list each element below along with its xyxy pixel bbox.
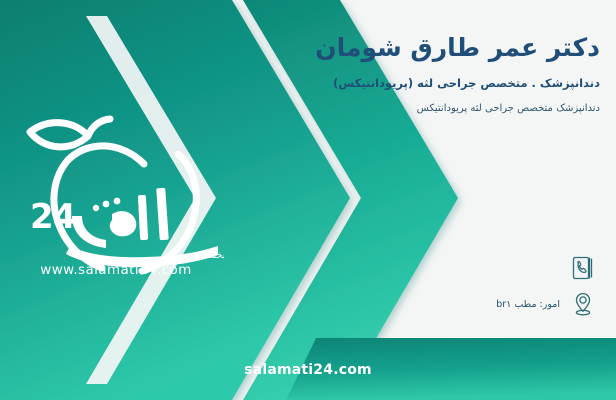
contact-list: امور: مطب br۱ [298,250,598,322]
header-block: دکتر عمر طارق شومان دندانپزشک . متخصص جر… [180,34,600,115]
apple-leaf [30,123,88,147]
doctor-name: دکتر عمر طارق شومان [180,34,600,63]
apple-stem [88,119,110,136]
logo-24-badge: 24 [30,197,76,237]
contact-address-label: امور: مطب br۱ [496,299,560,310]
logo-24-text: 24 [30,197,76,237]
contact-row-address[interactable]: امور: مطب br۱ [298,286,598,322]
specialty-secondary: دندانپزشک متخصص جراحی لثه پریودانتیکس [180,102,600,115]
logo-graphic: 24 به راحتی یک لبخند www.salamati24.com [8,96,224,276]
specialty-primary: دندانپزشک . متخصص جراحی لثه (پریودانتیکس… [180,76,600,91]
phone-book-icon [568,253,598,283]
location-pin-icon [568,289,598,319]
contact-row-phone[interactable] [298,250,598,286]
logo-url[interactable]: www.salamati24.com [40,262,191,276]
apple-outline-top [68,146,144,164]
brand-logo[interactable]: 24 به راحتی یک لبخند www.salamati24.com [8,96,224,276]
business-card: 24 به راحتی یک لبخند www.salamati24.com … [0,0,616,400]
logo-tagline: به راحتی یک لبخند [208,250,224,261]
